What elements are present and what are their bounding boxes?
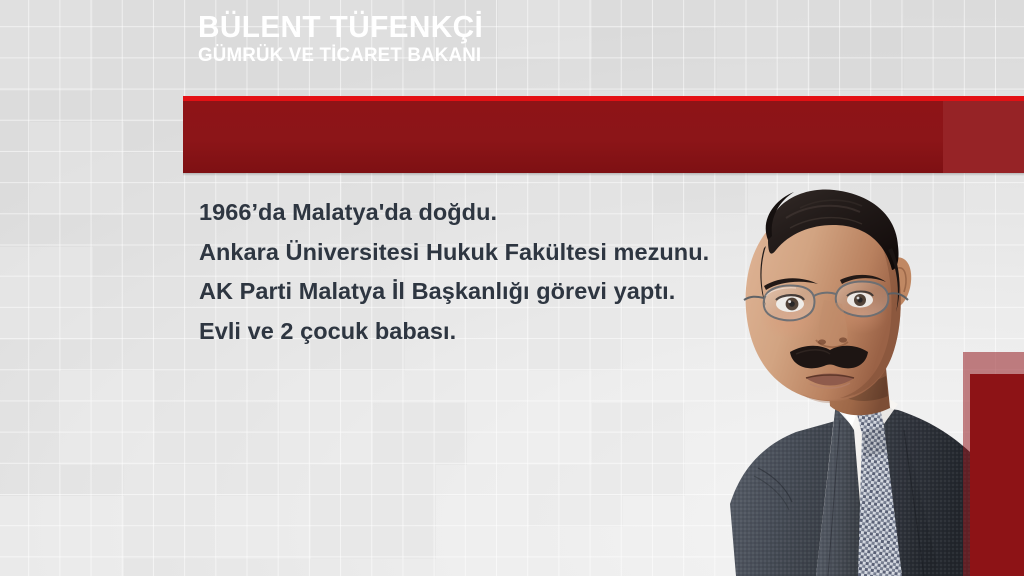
broadcast-lower-third-graphic: BÜLENT TÜFENKÇİ GÜMRÜK VE TİCARET BAKANI… (0, 0, 1024, 576)
person-role: GÜMRÜK VE TİCARET BAKANI (198, 44, 483, 67)
biography-line: Ankara Üniversitesi Hukuk Fakültesi mezu… (199, 233, 709, 273)
banner-text-group: BÜLENT TÜFENKÇİ GÜMRÜK VE TİCARET BAKANI (198, 10, 495, 67)
biography-line: 1966’da Malatya'da doğdu. (199, 193, 709, 233)
biography-line: AK Parti Malatya İl Başkanlığı görevi ya… (199, 272, 709, 312)
person-name: BÜLENT TÜFENKÇİ (198, 10, 483, 44)
corner-accent-solid (970, 374, 1024, 576)
portrait-photo (640, 100, 970, 576)
biography-list: 1966’da Malatya'da doğdu.Ankara Üniversi… (199, 193, 709, 351)
biography-line: Evli ve 2 çocuk babası. (199, 312, 709, 352)
